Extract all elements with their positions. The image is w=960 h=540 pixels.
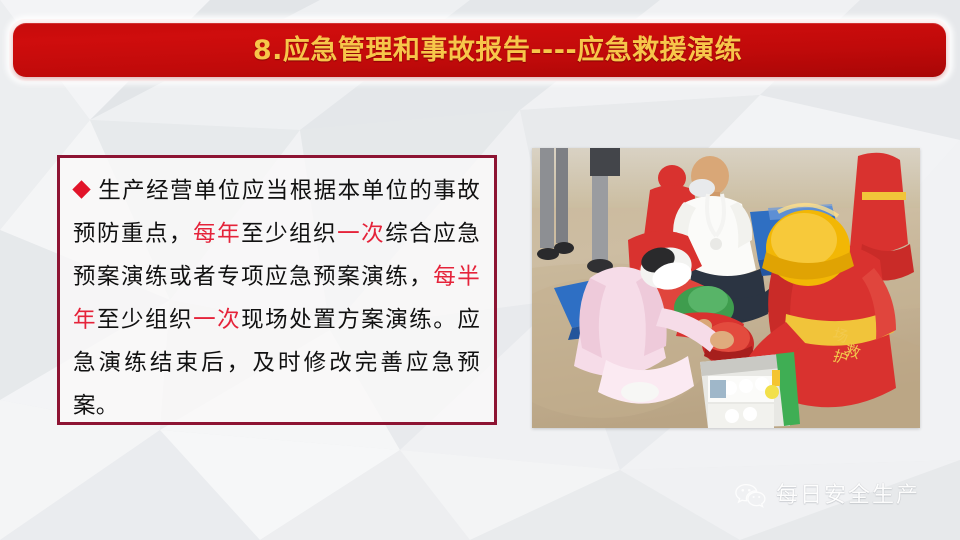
highlighted-term: 每年 bbox=[193, 221, 241, 247]
content-rich-text: 生产经营单位应当根据本单位的事故预防重点，每年至少组织一次综合应急预案演练或者专… bbox=[73, 178, 480, 419]
body-text-run: 至少组织 bbox=[241, 221, 337, 247]
body-text-run: 演练， bbox=[361, 264, 433, 290]
wechat-icon bbox=[735, 483, 767, 509]
watermark: 每日安全生产 bbox=[735, 483, 920, 509]
highlighted-term: 一次 bbox=[193, 307, 241, 333]
rescue-drill-photo: 场 救 护 bbox=[532, 148, 920, 428]
page-title: 8.应急管理和事故报告----应急救援演练 bbox=[253, 37, 742, 64]
title-banner: 8.应急管理和事故报告----应急救援演练 bbox=[13, 23, 946, 77]
body-text-run: 综 bbox=[385, 221, 409, 247]
content-text-card: 生产经营单位应当根据本单位的事故预防重点，每年至少组织一次综合应急预案演练或者专… bbox=[57, 155, 497, 425]
body-text-run: 至少组织 bbox=[97, 307, 193, 333]
slide-root: 8.应急管理和事故报告----应急救援演练 生产经营单位应当根据本单位的事故预防… bbox=[0, 0, 960, 540]
body-text-run: 现场处 bbox=[241, 307, 313, 333]
highlighted-term: 一次 bbox=[337, 221, 385, 247]
body-text-run: 生产经营单位应当根据本单位的事 bbox=[97, 178, 457, 204]
title-banner-frame: 8.应急管理和事故报告----应急救援演练 bbox=[9, 19, 950, 81]
diamond-bullet-icon bbox=[72, 180, 90, 198]
content-paragraph: 生产经营单位应当根据本单位的事故预防重点，每年至少组织一次综合应急预案演练或者专… bbox=[73, 170, 480, 428]
watermark-text: 每日安全生产 bbox=[776, 485, 920, 507]
